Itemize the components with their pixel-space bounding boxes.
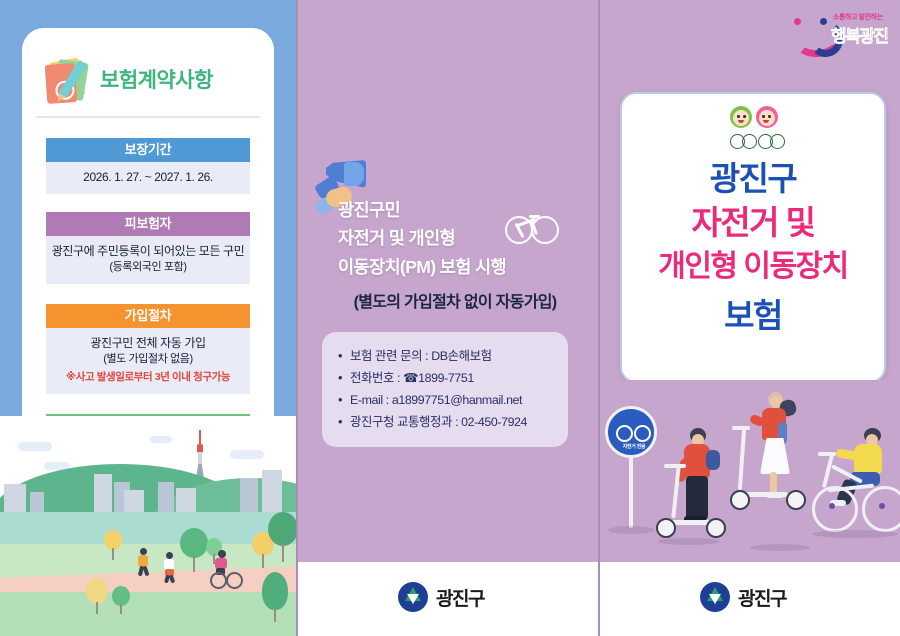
- info-header: 가입절차: [46, 304, 250, 328]
- contact-item-phone: 전화번호 : ☎1899-7751: [338, 367, 558, 389]
- seoul-park-scene-illustration: [0, 416, 296, 636]
- clipboard-pencil-icon: [44, 58, 88, 106]
- middle-footer: 광진구: [298, 562, 598, 636]
- right-footer: 광진구: [600, 562, 900, 636]
- info-body: 광진구에 주민등록이 되어있는 모든 구민 (등록외국인 포함): [46, 236, 250, 284]
- gwangjin-gu-logo-icon: 광진구: [398, 580, 528, 614]
- footer-logo-text: 광진구: [436, 584, 484, 611]
- main-title-card: 광진구 자전거 및 개인형 이동장치 보험: [620, 92, 886, 383]
- contact-item-email: E-mail : a18997751@hanmail.net: [338, 389, 558, 411]
- info-body-warning: ※사고 발생일로부터 3년 이내 청구가능: [50, 370, 246, 385]
- gwangjin-gu-logo-icon: 광진구: [700, 580, 830, 614]
- happy-gwangjin-brand-logo: 소통하고 발전하는 행복광진: [793, 10, 889, 50]
- info-body-main: 2026. 1. 27. ~ 2027. 1. 26.: [83, 170, 213, 184]
- info-header: 보장기간: [46, 138, 250, 162]
- info-body-sub: (등록외국인 포함): [50, 260, 246, 276]
- two-mascots-on-bicycles-icon: [728, 106, 786, 154]
- info-body-sub: (별도 가입절차 없음): [50, 352, 246, 368]
- title-line-3: 개인형 이동장치: [622, 252, 884, 282]
- info-header: 피보험자: [46, 212, 250, 236]
- bicycle-only-sign-icon: 자전거 전용: [605, 406, 657, 458]
- info-block-enrollment-process: 가입절차 광진구민 전체 자동 가입 (별도 가입절차 없음) ※사고 발생일로…: [46, 304, 250, 394]
- info-body: 2026. 1. 27. ~ 2027. 1. 26.: [46, 162, 250, 194]
- heading-line-3: 이동장치(PM) 보험 시행: [338, 253, 586, 281]
- scooter-and-bicycle-riders-illustration: 자전거 전용: [600, 380, 900, 562]
- contact-item-insurer: 보험 관련 문의 : DB손해보험: [338, 345, 558, 367]
- bicycle-icon: [505, 208, 557, 242]
- title-line-1: 광진구: [622, 162, 884, 195]
- title-line-2: 자전거 및: [622, 206, 884, 239]
- brand-name: 행복광진: [831, 22, 888, 47]
- info-body-main: 광진구민 전체 자동 가입: [90, 336, 205, 350]
- info-block-insured-person: 피보험자 광진구에 주민등록이 되어있는 모든 구민 (등록외국인 포함): [46, 212, 250, 284]
- brand-tagline: 소통하고 발전하는: [833, 12, 883, 22]
- middle-panel: [298, 0, 598, 636]
- info-body: 광진구민 전체 자동 가입 (별도 가입절차 없음) ※사고 발생일로부터 3년…: [46, 328, 250, 394]
- middle-subheading: (별도의 가입절차 없이 자동가입): [324, 288, 586, 312]
- sign-label: 자전거 전용: [608, 443, 660, 450]
- smile-mark-icon: [793, 18, 829, 44]
- insurance-contract-card: 보험계약사항 보장기간 2026. 1. 27. ~ 2027. 1. 26. …: [22, 28, 274, 468]
- title-line-4: 보험: [622, 299, 884, 332]
- contact-item-office: 광진구청 교통행정과 : 02-450-7924: [338, 411, 558, 433]
- contact-info-box: 보험 관련 문의 : DB손해보험 전화번호 : ☎1899-7751 E-ma…: [322, 332, 568, 447]
- card-header: 보험계약사항: [22, 50, 274, 114]
- info-body-main: 광진구에 주민등록이 되어있는 모든 구민: [52, 244, 245, 258]
- card-title: 보험계약사항: [100, 64, 260, 94]
- left-panel: 보험계약사항 보장기간 2026. 1. 27. ~ 2027. 1. 26. …: [0, 0, 296, 636]
- header-divider: [36, 116, 260, 118]
- info-block-coverage-period: 보장기간 2026. 1. 27. ~ 2027. 1. 26.: [46, 138, 250, 194]
- footer-logo-text: 광진구: [738, 584, 786, 611]
- brochure-sheet: 보험계약사항 보장기간 2026. 1. 27. ~ 2027. 1. 26. …: [0, 0, 900, 636]
- n-seoul-tower-icon: [196, 430, 204, 478]
